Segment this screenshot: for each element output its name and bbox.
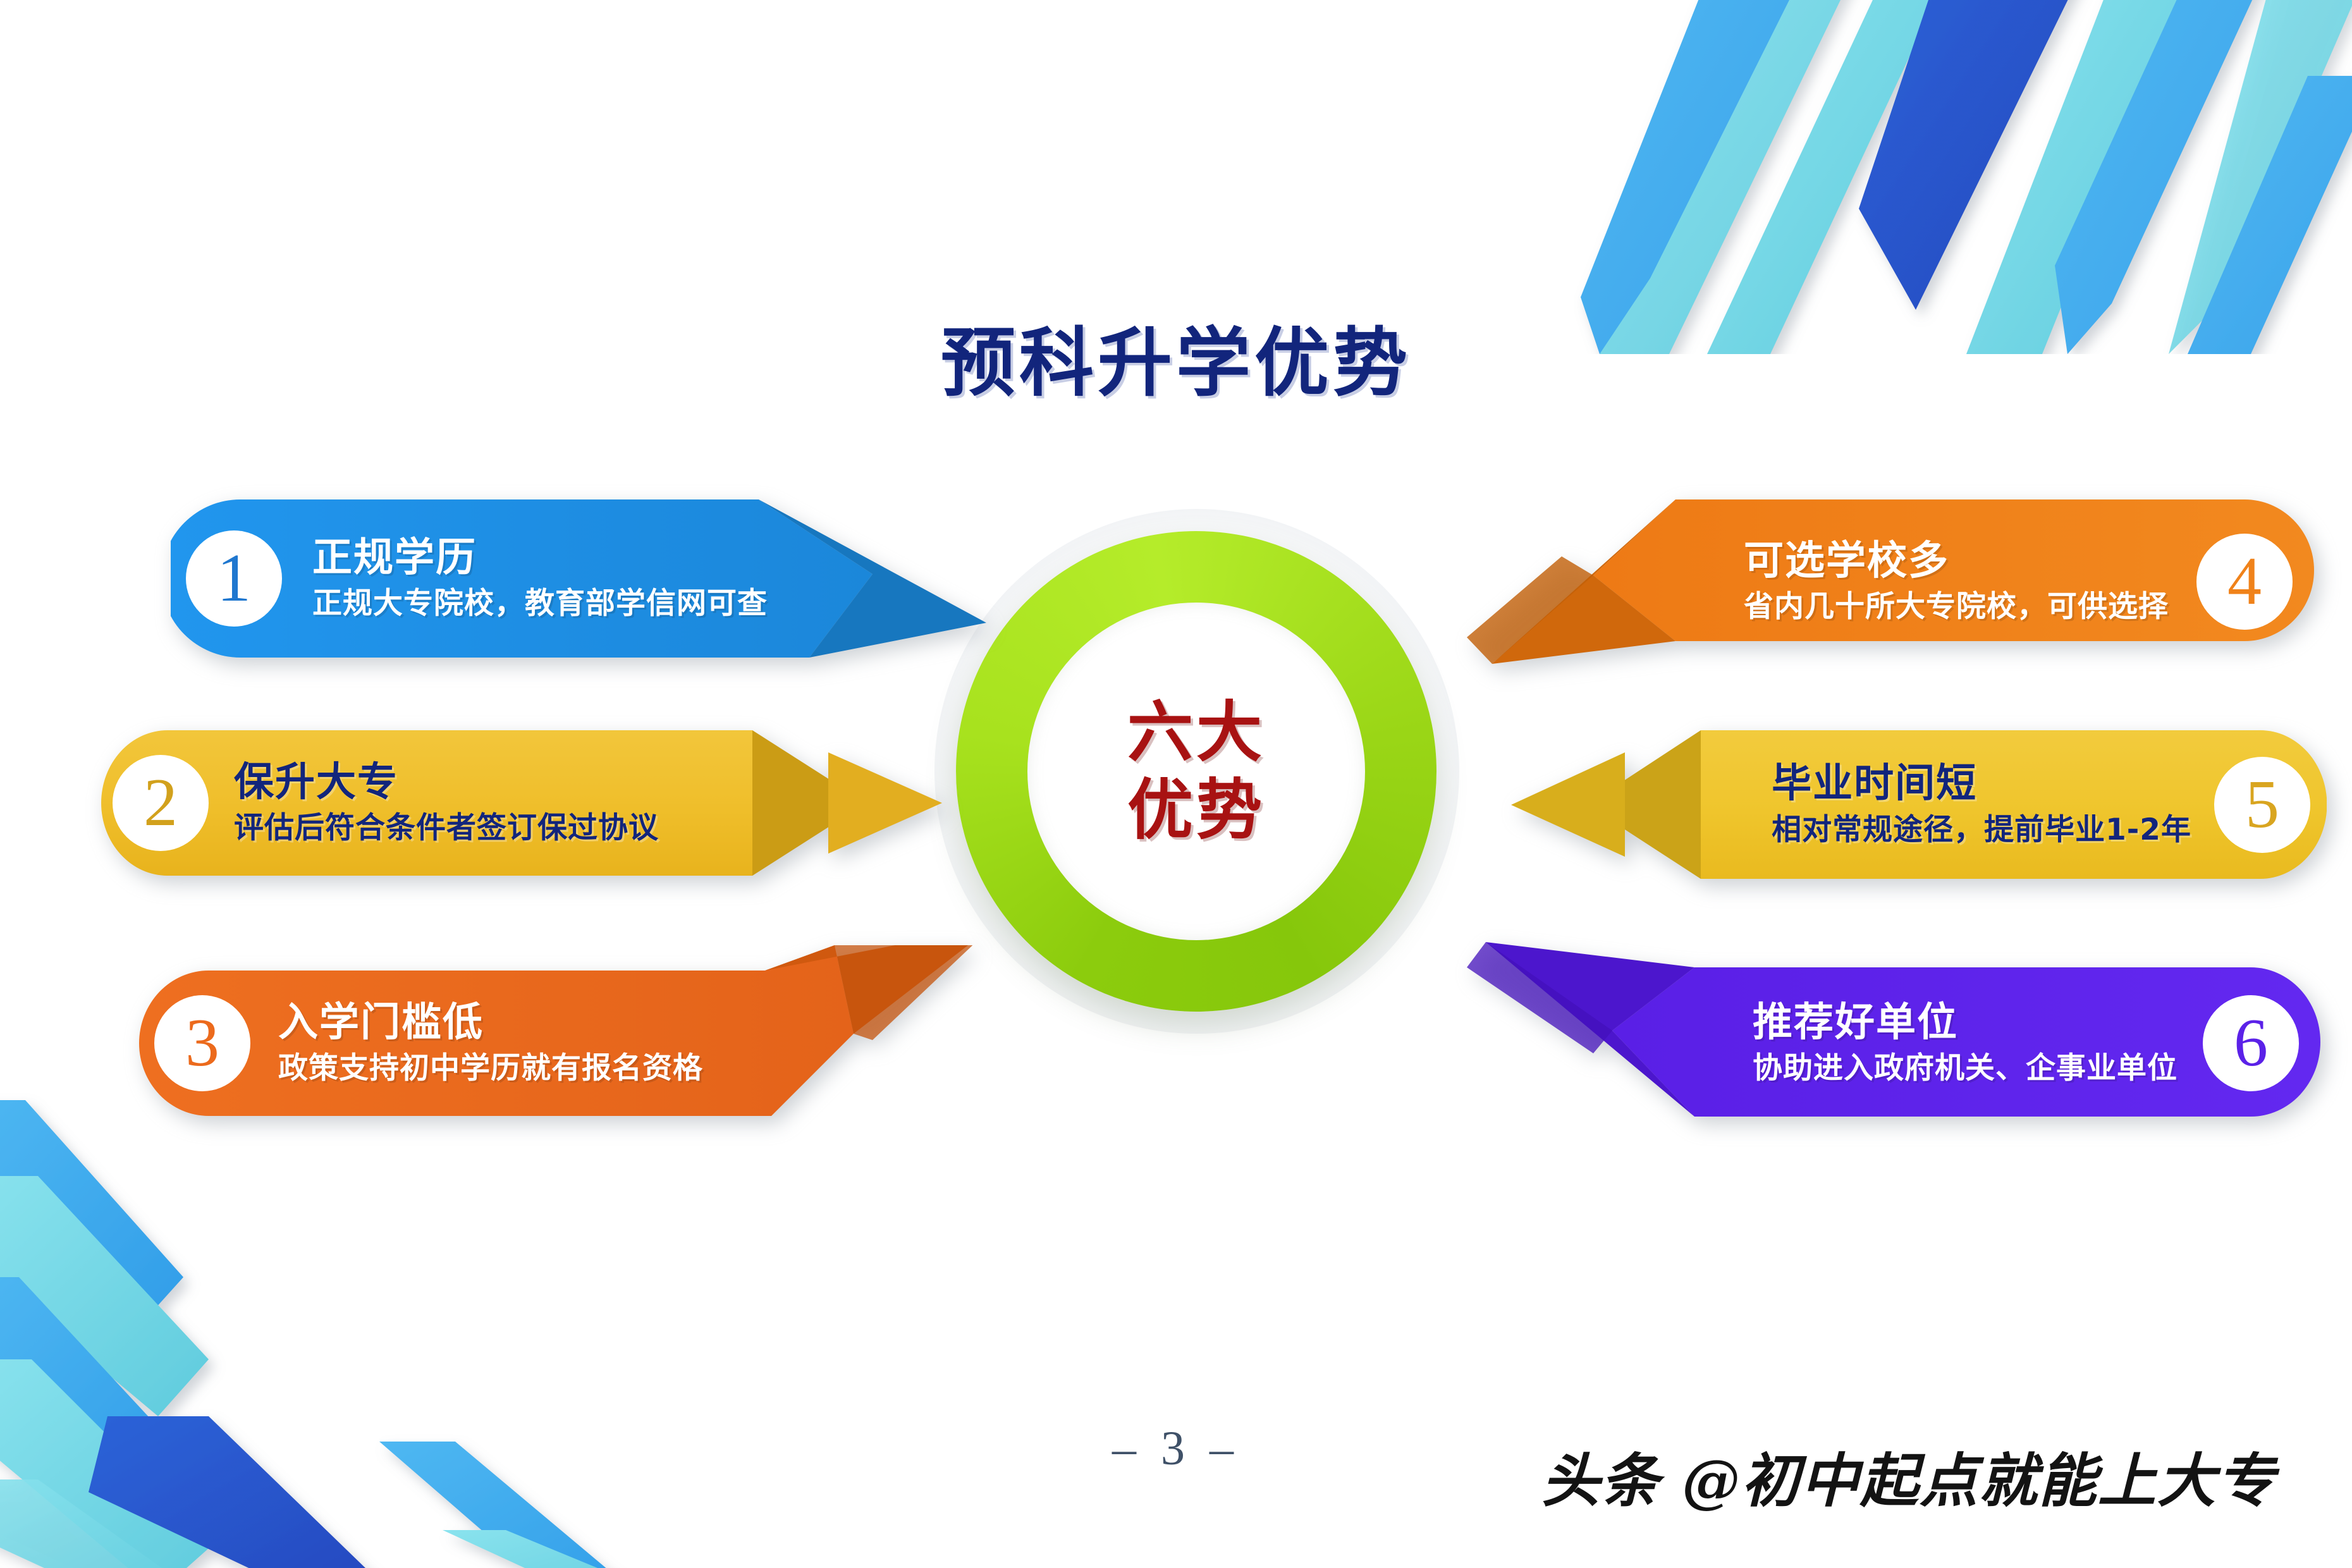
item-head-1: 正规学历: [312, 536, 768, 580]
item-sub-5: 相对常规途径，提前毕业1-2年: [1772, 812, 2191, 848]
item-head-4: 可选学校多: [1744, 539, 2169, 584]
item-sub-4: 省内几十所大专院校，可供选择: [1744, 589, 2169, 625]
decor-corner-top-right: [1562, 0, 2352, 354]
decor-corner-bottom-left: [0, 1087, 727, 1568]
slide-canvas: 预科升学优势 六大 优势 1 正规学历 正规大专院校，教育部学信网可查: [0, 0, 2352, 1568]
item-number-5: 5: [2214, 757, 2310, 853]
item-head-2: 保升大专: [234, 760, 659, 805]
advantage-item-3[interactable]: 3 入学门槛低 政策支持初中学历就有报名资格: [139, 945, 993, 1116]
center-ring-label: 六大 优势: [1027, 603, 1365, 940]
item-sub-2: 评估后符合条件者签订保过协议: [234, 811, 659, 846]
page-title: 预科升学优势: [0, 302, 2352, 410]
decor-bands-tr: [1562, 0, 2352, 354]
advantage-item-6[interactable]: 推荐好单位 协助进入政府机关、企事业单位 6: [1467, 942, 2320, 1119]
advantage-item-5[interactable]: 毕业时间短 相对常规途径，提前毕业1-2年 5: [1511, 730, 2327, 879]
decor-bands-bl: [0, 1087, 727, 1568]
item-head-3: 入学门槛低: [278, 1000, 703, 1045]
advantage-item-1[interactable]: 1 正规学历 正规大专院校，教育部学信网可查: [171, 499, 986, 658]
advantage-item-2[interactable]: 2 保升大专 评估后符合条件者签订保过协议: [101, 730, 942, 876]
item-head-5: 毕业时间短: [1772, 761, 2191, 806]
item-number-3: 3: [154, 995, 250, 1091]
watermark-text: 头条 @初中起点就能上大专: [1541, 1434, 2276, 1518]
advantage-item-4[interactable]: 可选学校多 省内几十所大专院校，可供选择 4: [1467, 499, 2314, 664]
item-number-6: 6: [2203, 995, 2299, 1091]
item-head-6: 推荐好单位: [1753, 1000, 2177, 1045]
item-sub-3: 政策支持初中学历就有报名资格: [278, 1051, 703, 1086]
item-number-1: 1: [186, 530, 282, 627]
center-line-1: 六大: [1127, 694, 1265, 771]
item-number-4: 4: [2196, 534, 2293, 630]
item-sub-6: 协助进入政府机关、企事业单位: [1753, 1051, 2177, 1086]
item-sub-1: 正规大专院校，教育部学信网可查: [312, 586, 768, 622]
center-line-2: 优势: [1127, 771, 1265, 849]
item-number-2: 2: [113, 755, 209, 851]
